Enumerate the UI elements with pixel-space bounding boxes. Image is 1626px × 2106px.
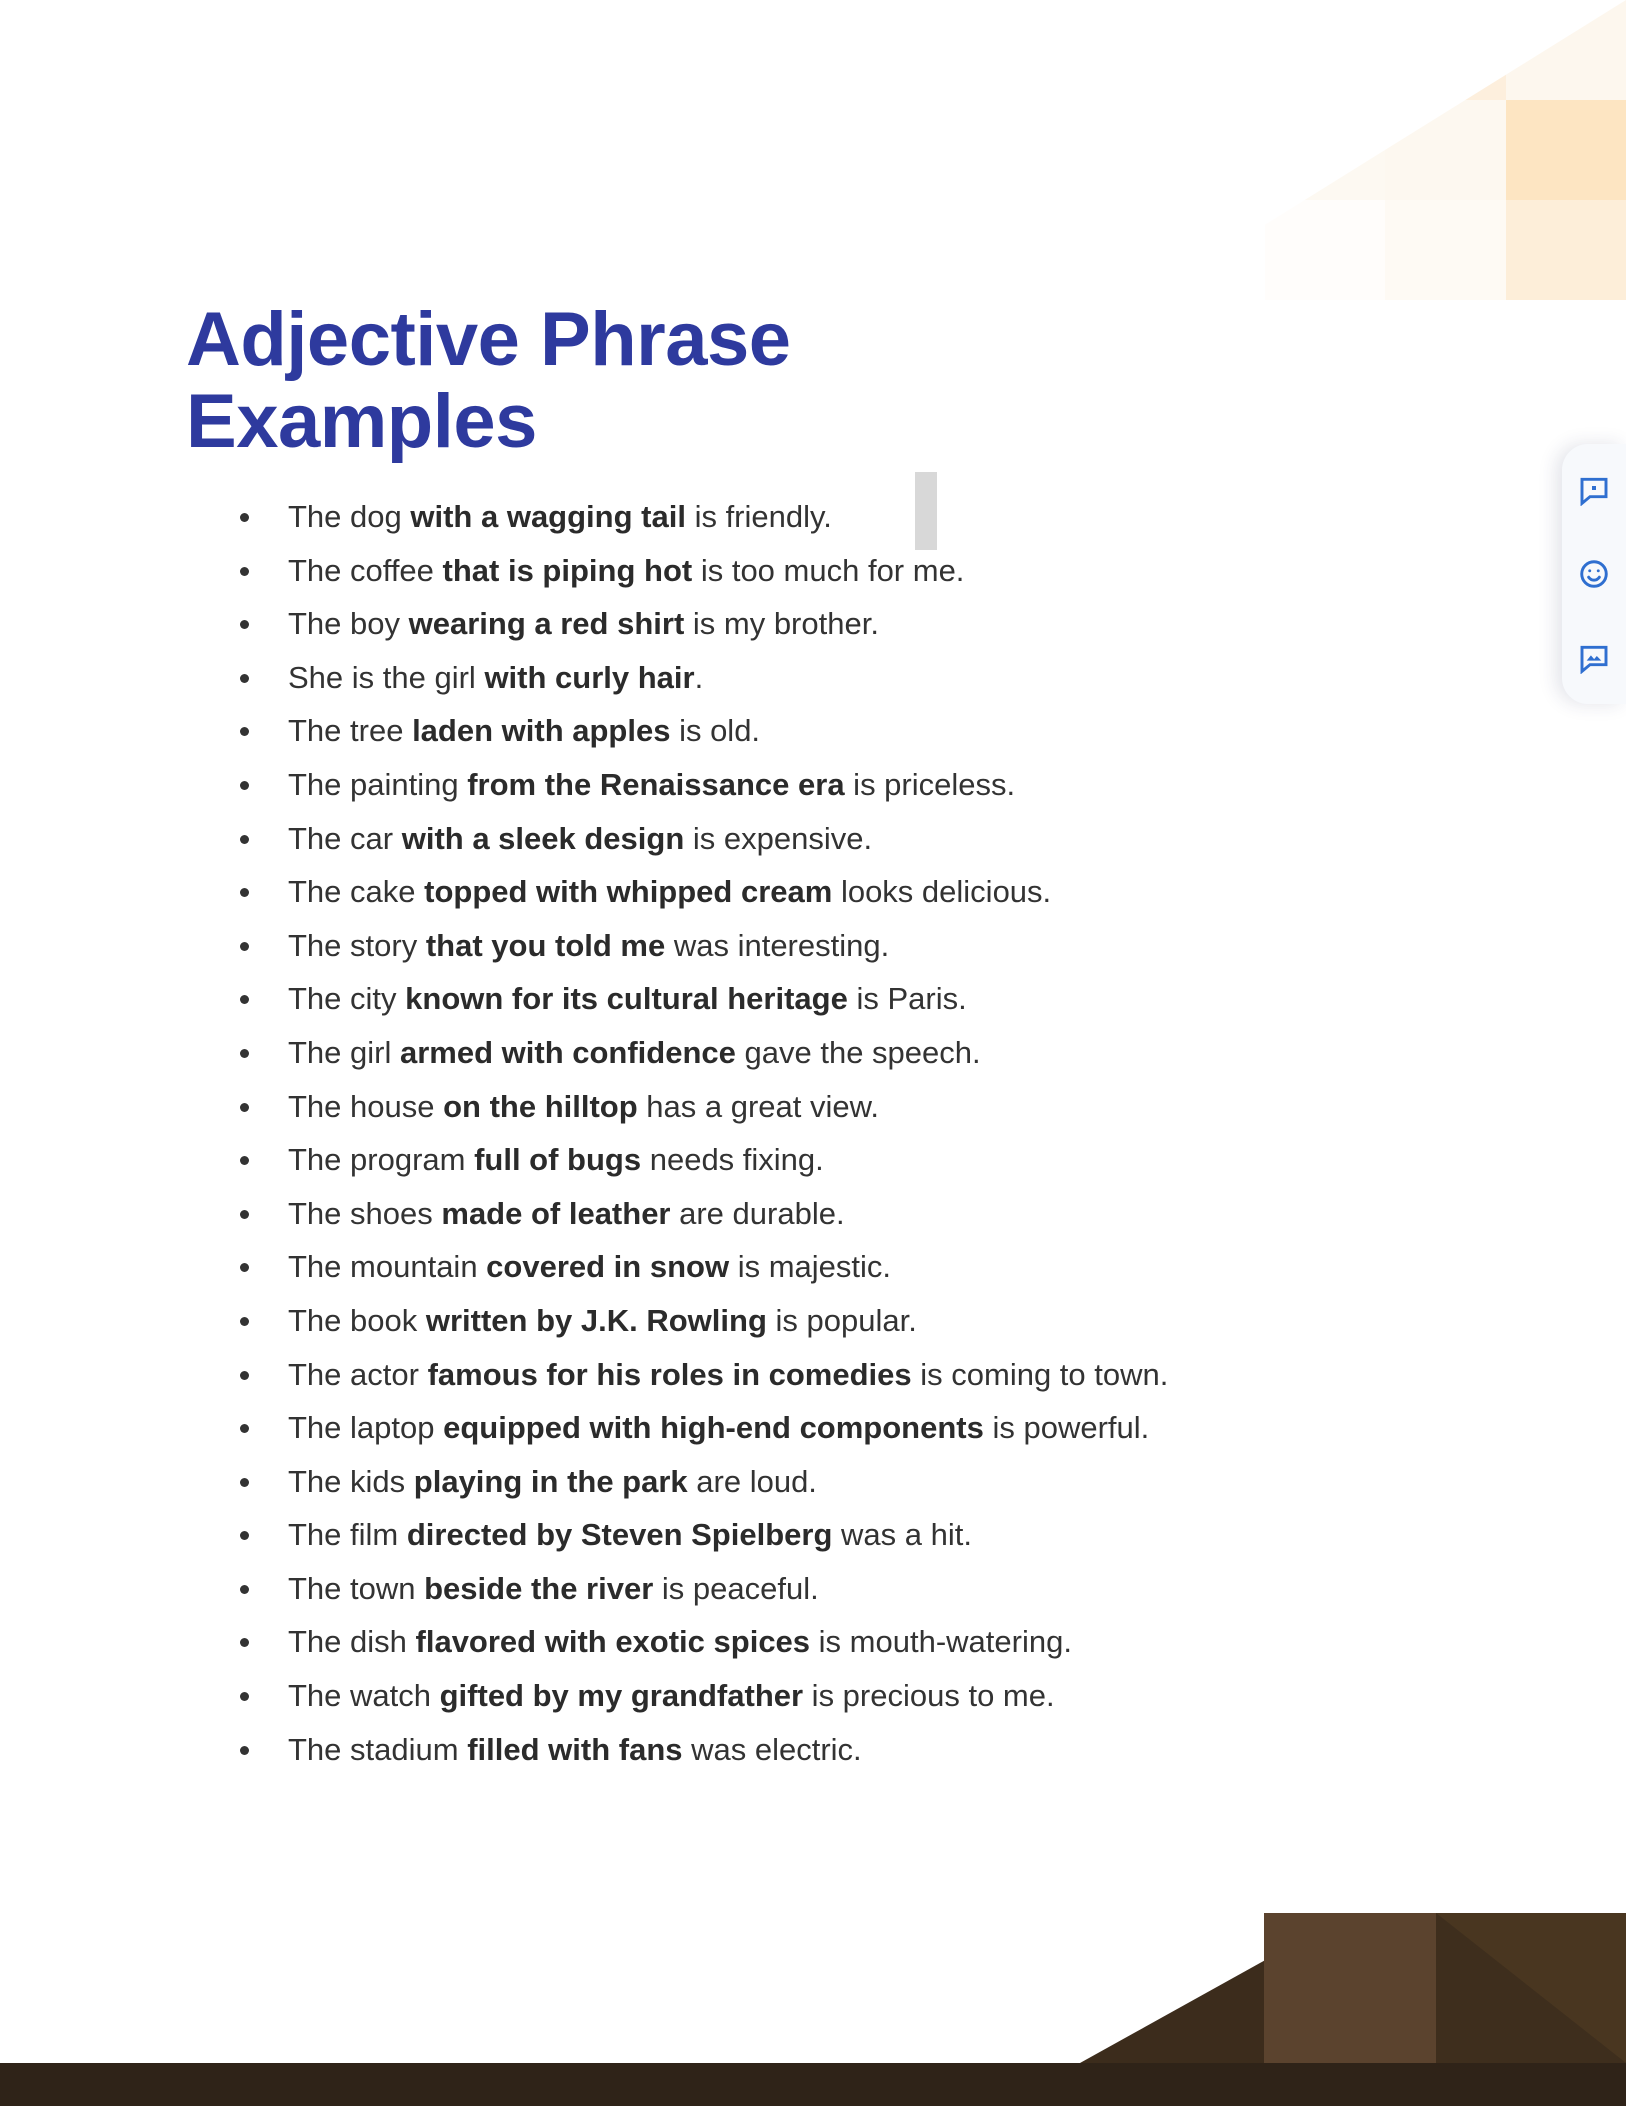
list-item: The actor famous for his roles in comedi… bbox=[228, 1348, 1378, 1402]
adjective-phrase: full of bugs bbox=[474, 1142, 641, 1177]
sentence-tail: was interesting. bbox=[665, 928, 889, 963]
adjective-phrase: made of leather bbox=[441, 1196, 670, 1231]
sentence-tail: is old. bbox=[670, 713, 760, 748]
adjective-phrase: on the hilltop bbox=[443, 1089, 638, 1124]
bullet-dot-icon bbox=[240, 1263, 249, 1272]
comment-add-icon[interactable] bbox=[1574, 470, 1614, 510]
sentence-tail: is powerful. bbox=[984, 1410, 1149, 1445]
checker-cell bbox=[1144, 200, 1265, 300]
checker-cell bbox=[1265, 100, 1386, 200]
adjective-phrase: with curly hair bbox=[484, 660, 694, 695]
checker-cell bbox=[1506, 0, 1626, 100]
sentence-lead: The actor bbox=[288, 1357, 428, 1392]
floating-comment-toolbar[interactable] bbox=[1562, 444, 1626, 704]
bullet-dot-icon bbox=[240, 781, 249, 790]
list-item: The car with a sleek design is expensive… bbox=[228, 812, 1378, 866]
sentence-tail: is peaceful. bbox=[653, 1571, 818, 1606]
bullet-dot-icon bbox=[240, 1371, 249, 1380]
list-item: The shoes made of leather are durable. bbox=[228, 1187, 1378, 1241]
checker-cell bbox=[1265, 0, 1386, 100]
checker-cell bbox=[1385, 100, 1506, 200]
sentence-tail: needs fixing. bbox=[641, 1142, 824, 1177]
sentence-lead: The program bbox=[288, 1142, 474, 1177]
adjective-phrase: covered in snow bbox=[486, 1249, 729, 1284]
adjective-phrase: topped with whipped cream bbox=[424, 874, 832, 909]
sentence-lead: The dish bbox=[288, 1624, 416, 1659]
sentence-lead: The coffee bbox=[288, 553, 443, 588]
adjective-phrase: with a sleek design bbox=[402, 821, 685, 856]
adjective-phrase: directed by Steven Spielberg bbox=[407, 1517, 833, 1552]
checker-cell bbox=[1144, 100, 1265, 200]
brown-square-light bbox=[1264, 1913, 1436, 2063]
adjective-phrase: armed with confidence bbox=[400, 1035, 736, 1070]
sentence-tail: are durable. bbox=[671, 1196, 845, 1231]
emoji-reaction-icon[interactable] bbox=[1574, 554, 1614, 594]
list-item: The laptop equipped with high-end compon… bbox=[228, 1401, 1378, 1455]
adjective-phrase: laden with apples bbox=[412, 713, 670, 748]
bullet-dot-icon bbox=[240, 1585, 249, 1594]
adjective-phrase: equipped with high-end components bbox=[443, 1410, 984, 1445]
sentence-lead: The house bbox=[288, 1089, 443, 1124]
list-item: The stadium filled with fans was electri… bbox=[228, 1723, 1378, 1777]
bullet-dot-icon bbox=[240, 727, 249, 736]
bottom-footer-band bbox=[0, 2063, 1626, 2106]
checker-cell bbox=[1144, 0, 1265, 100]
sentence-lead: The stadium bbox=[288, 1732, 467, 1767]
list-item: She is the girl with curly hair. bbox=[228, 651, 1378, 705]
adjective-phrase: gifted by my grandfather bbox=[440, 1678, 803, 1713]
bullet-dot-icon bbox=[240, 942, 249, 951]
adjective-phrase: written by J.K. Rowling bbox=[426, 1303, 767, 1338]
sentence-tail: is too much for me. bbox=[692, 553, 964, 588]
bullet-dot-icon bbox=[240, 1746, 249, 1755]
sentence-lead: The painting bbox=[288, 767, 467, 802]
sentence-lead: The laptop bbox=[288, 1410, 443, 1445]
bullet-dot-icon bbox=[240, 1638, 249, 1647]
list-item: The tree laden with apples is old. bbox=[228, 704, 1378, 758]
checkerboard-corner-decoration bbox=[1144, 0, 1626, 300]
list-item: The house on the hilltop has a great vie… bbox=[228, 1080, 1378, 1134]
list-item: The coffee that is piping hot is too muc… bbox=[228, 544, 1378, 598]
list-item: The boy wearing a red shirt is my brothe… bbox=[228, 597, 1378, 651]
bullet-dot-icon bbox=[240, 1049, 249, 1058]
bullet-dot-icon bbox=[240, 1531, 249, 1540]
sentence-lead: The book bbox=[288, 1303, 426, 1338]
bullet-dot-icon bbox=[240, 674, 249, 683]
sentence-lead: The dog bbox=[288, 499, 410, 534]
sentence-lead: The city bbox=[288, 981, 405, 1016]
sentence-tail: gave the speech. bbox=[736, 1035, 981, 1070]
sentence-lead: She is the girl bbox=[288, 660, 484, 695]
sentence-lead: The girl bbox=[288, 1035, 400, 1070]
list-item: The book written by J.K. Rowling is popu… bbox=[228, 1294, 1378, 1348]
bullet-dot-icon bbox=[240, 620, 249, 629]
list-item: The program full of bugs needs fixing. bbox=[228, 1133, 1378, 1187]
list-item: The kids playing in the park are loud. bbox=[228, 1455, 1378, 1509]
sentence-lead: The boy bbox=[288, 606, 409, 641]
adjective-phrase-example-list: The dog with a wagging tail is friendly.… bbox=[228, 490, 1378, 1776]
bullet-dot-icon bbox=[240, 1692, 249, 1701]
sentence-lead: The mountain bbox=[288, 1249, 486, 1284]
bullet-dot-icon bbox=[240, 835, 249, 844]
list-item: The cake topped with whipped cream looks… bbox=[228, 865, 1378, 919]
sentence-lead: The car bbox=[288, 821, 402, 856]
sentence-lead: The watch bbox=[288, 1678, 440, 1713]
bullet-dot-icon bbox=[240, 1210, 249, 1219]
list-item: The town beside the river is peaceful. bbox=[228, 1562, 1378, 1616]
sentence-tail: is friendly. bbox=[686, 499, 832, 534]
sentence-tail: are loud. bbox=[688, 1464, 817, 1499]
list-item: The girl armed with confidence gave the … bbox=[228, 1026, 1378, 1080]
sentence-tail: is coming to town. bbox=[912, 1357, 1169, 1392]
list-item: The film directed by Steven Spielberg wa… bbox=[228, 1508, 1378, 1562]
adjective-phrase: that is piping hot bbox=[443, 553, 693, 588]
sentence-lead: The film bbox=[288, 1517, 407, 1552]
checkerboard-grid bbox=[1144, 0, 1626, 300]
comment-image-icon[interactable] bbox=[1574, 638, 1614, 678]
list-item: The painting from the Renaissance era is… bbox=[228, 758, 1378, 812]
bullet-dot-icon bbox=[240, 1156, 249, 1165]
bullet-dot-icon bbox=[240, 513, 249, 522]
list-item: The story that you told me was interesti… bbox=[228, 919, 1378, 973]
sentence-tail: was a hit. bbox=[832, 1517, 972, 1552]
brown-geometric-decoration bbox=[1080, 1913, 1626, 2063]
bullet-dot-icon bbox=[240, 1478, 249, 1487]
sentence-tail: is precious to me. bbox=[803, 1678, 1055, 1713]
checker-cell bbox=[1506, 100, 1626, 200]
adjective-phrase: beside the river bbox=[424, 1571, 653, 1606]
sentence-tail: is mouth-watering. bbox=[810, 1624, 1072, 1659]
sentence-tail: was electric. bbox=[683, 1732, 862, 1767]
sentence-lead: The tree bbox=[288, 713, 412, 748]
adjective-phrase: wearing a red shirt bbox=[409, 606, 685, 641]
sentence-tail: is priceless. bbox=[845, 767, 1016, 802]
adjective-phrase: that you told me bbox=[426, 928, 665, 963]
list-item: The mountain covered in snow is majestic… bbox=[228, 1240, 1378, 1294]
list-item: The dish flavored with exotic spices is … bbox=[228, 1615, 1378, 1669]
sentence-lead: The story bbox=[288, 928, 426, 963]
sentence-lead: The kids bbox=[288, 1464, 414, 1499]
bullet-dot-icon bbox=[240, 1317, 249, 1326]
adjective-phrase: famous for his roles in comedies bbox=[428, 1357, 912, 1392]
list-item: The city known for its cultural heritage… bbox=[228, 972, 1378, 1026]
sentence-tail: is Paris. bbox=[848, 981, 967, 1016]
list-item: The watch gifted by my grandfather is pr… bbox=[228, 1669, 1378, 1723]
adjective-phrase: known for its cultural heritage bbox=[405, 981, 848, 1016]
sentence-lead: The shoes bbox=[288, 1196, 441, 1231]
bullet-dot-icon bbox=[240, 1103, 249, 1112]
bullet-dot-icon bbox=[240, 888, 249, 897]
sentence-tail: is majestic. bbox=[729, 1249, 891, 1284]
adjective-phrase: filled with fans bbox=[467, 1732, 682, 1767]
bullet-dot-icon bbox=[240, 995, 249, 1004]
sentence-tail: is expensive. bbox=[684, 821, 872, 856]
sentence-lead: The town bbox=[288, 1571, 424, 1606]
adjective-phrase: from the Renaissance era bbox=[467, 767, 844, 802]
sentence-lead: The cake bbox=[288, 874, 424, 909]
adjective-phrase: flavored with exotic spices bbox=[416, 1624, 811, 1659]
checker-cell bbox=[1385, 0, 1506, 100]
sentence-tail: looks delicious. bbox=[832, 874, 1051, 909]
adjective-phrase: playing in the park bbox=[414, 1464, 688, 1499]
bullet-dot-icon bbox=[240, 1424, 249, 1433]
text-selection-block bbox=[915, 472, 937, 550]
sentence-tail: . bbox=[695, 660, 704, 695]
page-title: Adjective Phrase Examples bbox=[186, 299, 1006, 463]
adjective-phrase: with a wagging tail bbox=[410, 499, 686, 534]
bullet-dot-icon bbox=[240, 567, 249, 576]
checker-cell bbox=[1265, 200, 1386, 300]
sentence-tail: is popular. bbox=[767, 1303, 917, 1338]
checker-cell bbox=[1385, 200, 1506, 300]
sentence-tail: is my brother. bbox=[684, 606, 879, 641]
list-item: The dog with a wagging tail is friendly. bbox=[228, 490, 1378, 544]
checker-cell bbox=[1506, 200, 1626, 300]
sentence-tail: has a great view. bbox=[638, 1089, 879, 1124]
